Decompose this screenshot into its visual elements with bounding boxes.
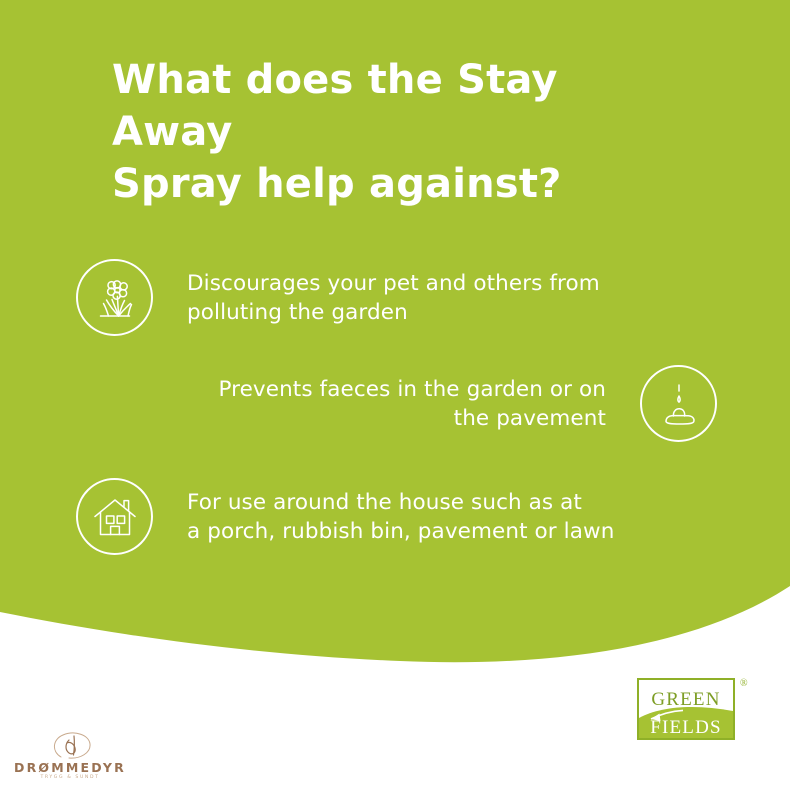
drommedyr-logo: DRØMMEDYR TRYGG & SUNDT [14,731,126,783]
page-title-line-2: Spray help against? [112,158,682,210]
feature-text-garden-line-1: Discourages your pet and others from [187,269,617,298]
green-fields-word-top: GREEN [651,689,720,710]
page-title: What does the Stay Away Spray help again… [112,54,682,210]
feature-item-house: For use around the house such as at a po… [76,478,637,555]
feature-text-faeces: Prevents faeces in the garden or on the … [196,375,606,433]
flower-grass-icon [76,259,153,336]
drommedyr-wordmark: DRØMMEDYR [14,760,126,775]
feature-text-garden-line-2: polluting the garden [187,298,617,327]
feature-item-faeces: Prevents faeces in the garden or on the … [196,365,717,442]
drommedyr-tagline: TRYGG & SUNDT [14,775,126,780]
feature-text-house-line-1: For use around the house such as at [187,488,637,517]
faeces-icon [640,365,717,442]
feature-text-house-line-2: a porch, rubbish bin, pavement or lawn [187,517,637,546]
registered-trademark-icon: ® [740,678,748,689]
green-fields-logo: GREEN FIELDS [637,678,735,740]
feature-text-faeces-line-1: Prevents faeces in the garden or on [196,375,606,404]
infographic-canvas: What does the Stay Away Spray help again… [0,0,790,790]
page-title-line-1: What does the Stay Away [112,54,682,158]
feature-text-faeces-line-2: the pavement [196,404,606,433]
feature-text-garden: Discourages your pet and others from pol… [187,269,617,327]
drommedyr-monogram-icon [48,731,94,761]
feature-item-garden: Discourages your pet and others from pol… [76,259,617,336]
feature-text-house: For use around the house such as at a po… [187,488,637,546]
green-fields-word-bottom: FIELDS [650,717,722,738]
house-icon [76,478,153,555]
